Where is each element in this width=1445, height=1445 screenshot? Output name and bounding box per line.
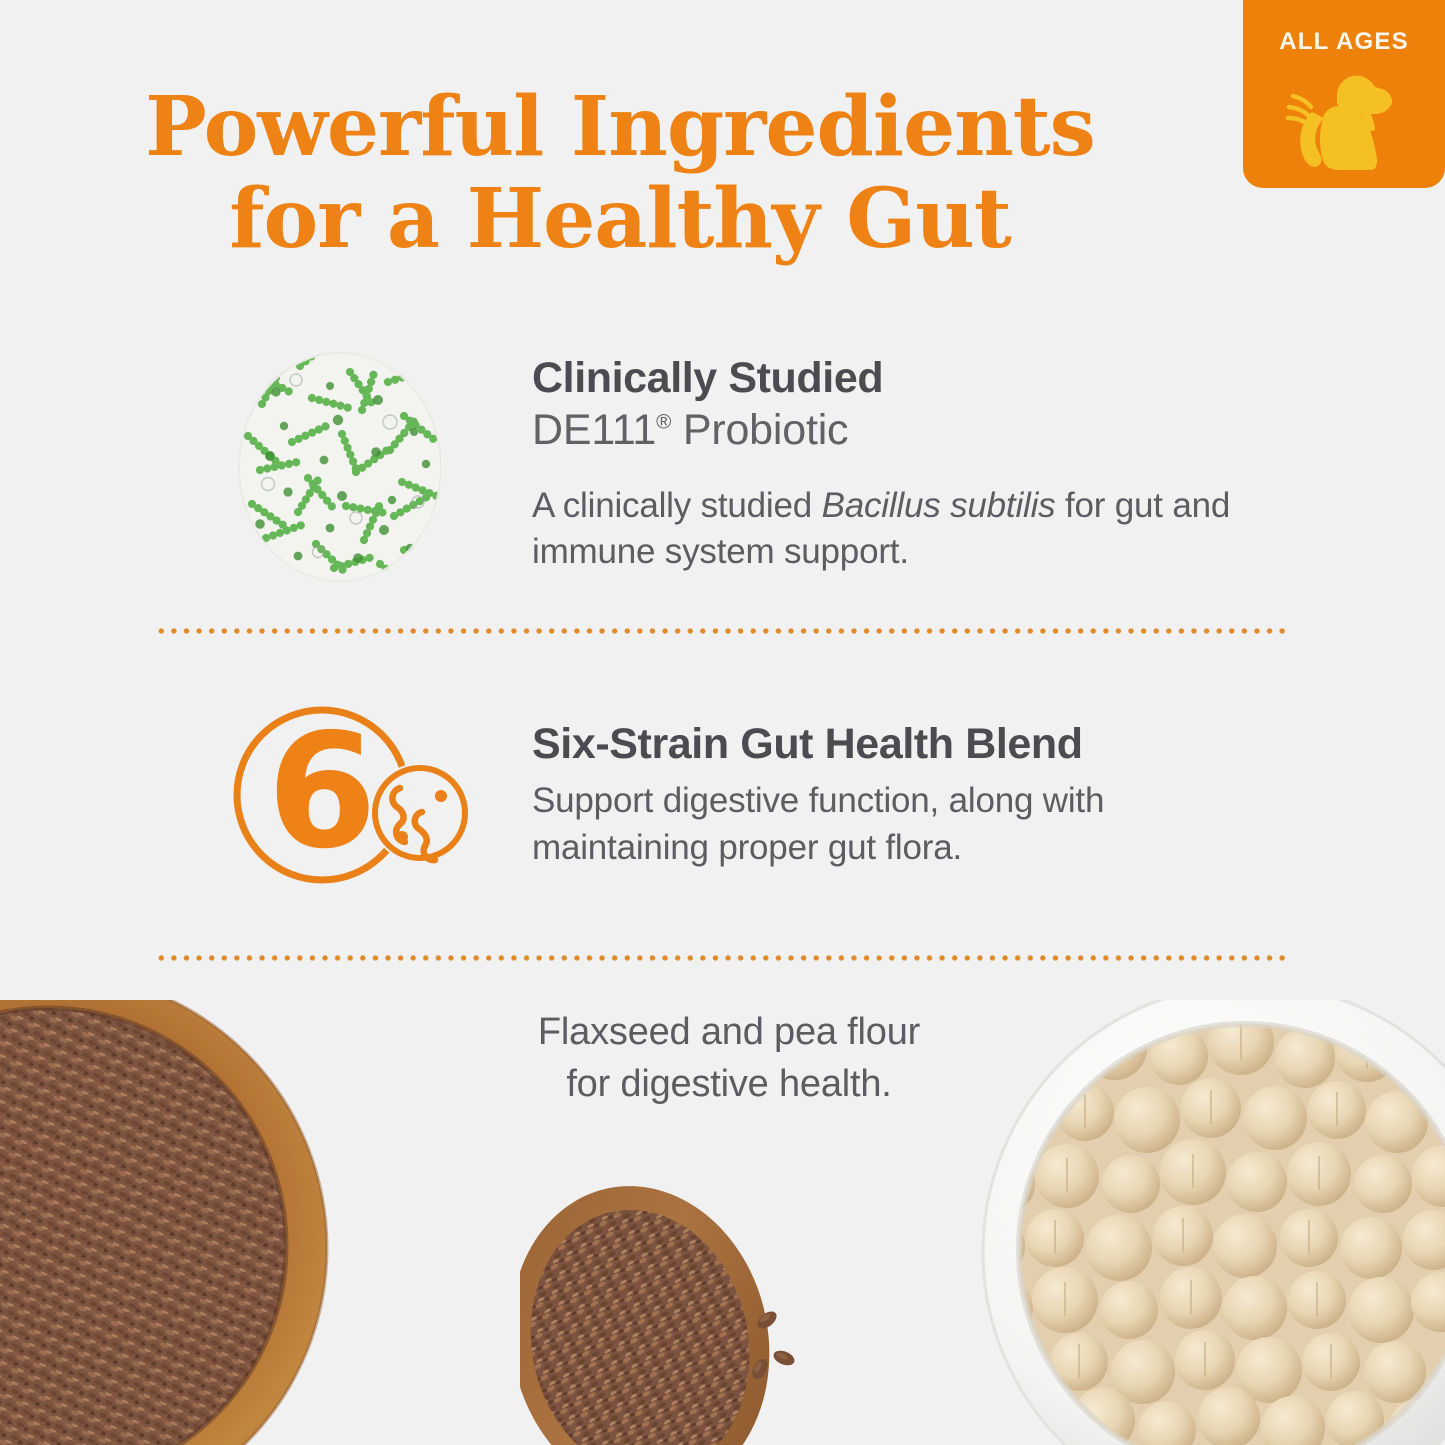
feature-1-text: Clinically Studied DE111® Probiotic A cl… — [532, 352, 1286, 575]
feature-row-probiotic: Clinically Studied DE111® Probiotic A cl… — [226, 352, 1286, 582]
infographic-page: ALL AGES Powerful Ingredients — [0, 0, 1445, 1445]
feature-1-product-code: DE111 — [532, 406, 656, 454]
flaxseed-wooden-spoon-photo — [520, 1155, 850, 1445]
feature-1-body: A clinically studied Bacillus subtilis f… — [532, 483, 1286, 575]
dotted-divider-2 — [155, 955, 1290, 961]
six-numeral: 6 — [267, 700, 377, 884]
six-strain-probiotic-icon: 6 — [226, 700, 474, 890]
bottom-caption: Flaxseed and pea flour for digestive hea… — [393, 1006, 1065, 1111]
feature-1-body-pre: A clinically studied — [532, 486, 822, 525]
feature-1-product-word: Probiotic — [671, 406, 848, 454]
feature-1-heading-strong: Clinically Studied — [532, 352, 1286, 404]
feature-1-species-name: Bacillus subtilis — [822, 486, 1056, 525]
bottom-caption-line-2: for digestive health. — [393, 1058, 1065, 1110]
feature-2-icon-wrap: 6 — [226, 700, 474, 895]
feature-2-body: Support digestive function, along with m… — [532, 778, 1286, 870]
feature-1-heading-light: DE111® Probiotic — [532, 404, 1286, 456]
feature-row-six-strain: 6 Six-Strain Gut Health Blend Support di… — [226, 700, 1286, 895]
page-title-line-1: Powerful Ingredients — [145, 79, 1095, 175]
registered-trademark-icon: ® — [656, 411, 671, 434]
feature-1-icon-wrap — [226, 352, 474, 582]
flaxseed-wooden-bowl-photo — [0, 1000, 420, 1445]
bacteria-microscopy-circle-icon — [238, 352, 443, 582]
sitting-dog-icon — [1279, 60, 1409, 178]
feature-2-heading-strong: Six-Strain Gut Health Blend — [532, 718, 1286, 770]
bottom-caption-line-1: Flaxseed and pea flour — [393, 1006, 1065, 1058]
dotted-divider-1 — [155, 628, 1290, 634]
all-ages-badge: ALL AGES — [1243, 0, 1445, 188]
feature-2-text: Six-Strain Gut Health Blend Support dige… — [532, 700, 1286, 871]
page-title: Powerful Ingredients for a Healthy Gut — [0, 82, 1240, 266]
page-title-line-2: for a Healthy Gut — [0, 174, 1240, 266]
all-ages-badge-label: ALL AGES — [1279, 30, 1409, 54]
